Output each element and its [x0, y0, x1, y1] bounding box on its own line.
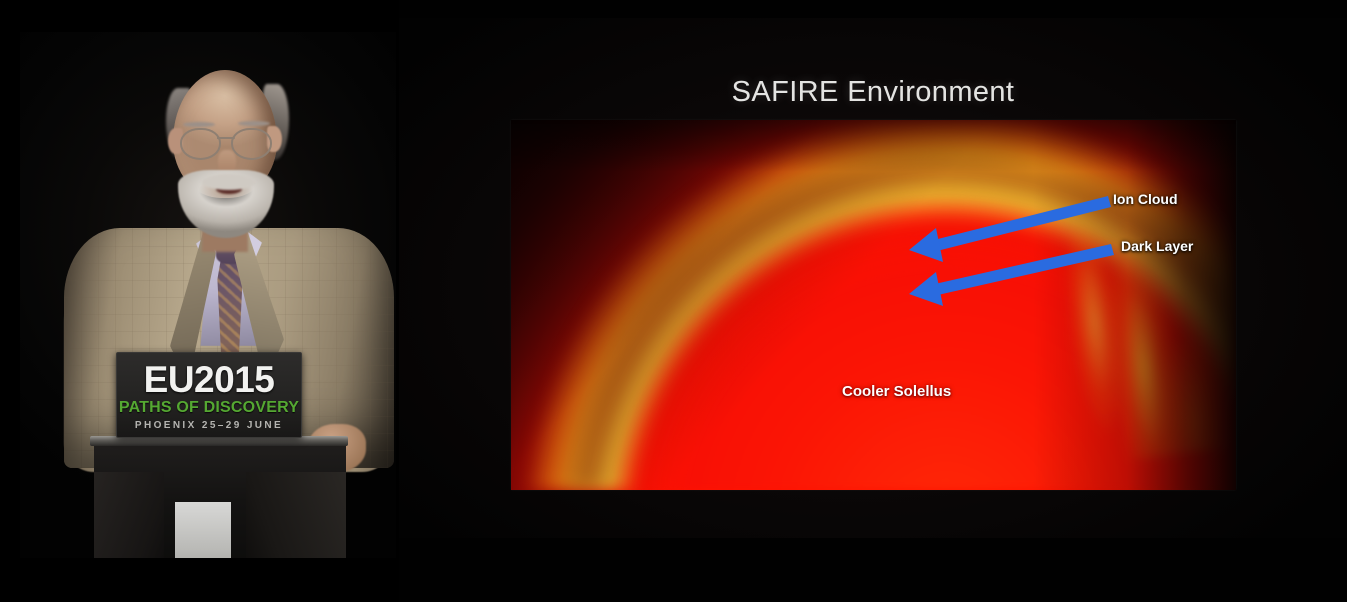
video-frame: EU2015 PATHS OF DISCOVERY PHOENIX 25–29 … [0, 0, 1347, 602]
label-ion-cloud: Ion Cloud [1113, 191, 1178, 207]
conference-location-dates: PHOENIX 25–29 JUNE [135, 420, 283, 432]
slide-capture-pane: SAFIRE Environment Cooler Sol [399, 0, 1347, 602]
plasma-top-fade [511, 120, 1236, 490]
label-cooler-solellus: Cooler Solellus [842, 383, 951, 400]
lectern-left-face [94, 472, 164, 558]
speaker-eyebrow-left [183, 122, 215, 127]
speaker-eyebrow-right [238, 121, 270, 126]
speaker-mustache [202, 174, 256, 190]
eyeglass-lens-right [231, 128, 272, 160]
lectern-front-panel [175, 502, 231, 558]
slide-title: SAFIRE Environment [399, 76, 1347, 109]
conference-name: EU2015 [144, 361, 275, 398]
eyeglass-lens-left [180, 128, 221, 160]
label-dark-layer: Dark Layer [1121, 238, 1193, 254]
podium-conference-sign: EU2015 PATHS OF DISCOVERY PHOENIX 25–29 … [116, 352, 302, 438]
speaker-camera-pane: EU2015 PATHS OF DISCOVERY PHOENIX 25–29 … [20, 32, 396, 558]
conference-tagline: PATHS OF DISCOVERY [119, 399, 299, 417]
plasma-figure: Cooler Solellus [511, 120, 1236, 490]
lectern-right-face [246, 472, 346, 558]
